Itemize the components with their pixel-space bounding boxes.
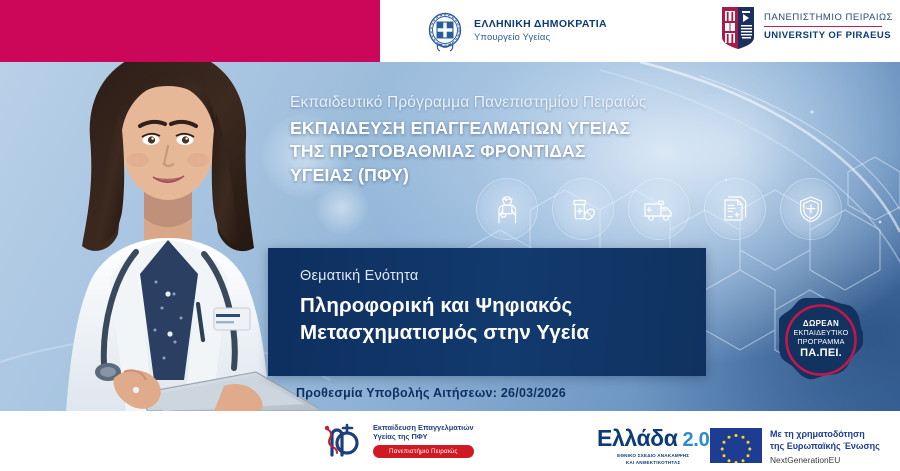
top-header-bar: ΕΛΛΗΝΙΚΗ ΔΗΜΟΚΡΑΤΙΑ Υπουργείο Υγείας	[380, 0, 900, 62]
university-of-piraeus-crest-icon	[720, 6, 756, 50]
university-of-piraeus-logo: ΠΑΝΕΠΙΣΤΗΜΙΟ ΠΕΙΡΑΙΩΣ UNIVERSITY OF PIRA…	[720, 6, 893, 50]
eu-funding-logo: Με τη χρηματοδότηση της Ευρωπαϊκής Ένωση…	[710, 428, 880, 466]
eu-logo-line-1: Με τη χρηματοδότηση	[770, 429, 880, 441]
promotional-banner: Εκπαιδευτικό Πρόγραμμα Πανεπιστημίου Πει…	[0, 0, 900, 471]
european-union-flag-icon	[710, 428, 762, 463]
application-deadline: Προθεσμία Υποβολής Αιτήσεων: 26/03/2026	[296, 386, 566, 400]
eu-logo-line-3: NextGenerationEU	[770, 455, 880, 466]
medicine-bottle-pills-icon	[552, 178, 614, 240]
service-icon-row	[476, 178, 842, 240]
uni-logo-divider	[764, 26, 882, 28]
ellada-logo-sub-1: ΕΘΝΙΚΟ ΣΧΕΔΙΟ ΑΝΑΚΑΜΨΗΣ	[597, 453, 709, 460]
medical-documents-icon	[704, 178, 766, 240]
ellada-2-0-logo: Ελλάδα 2.0 ΕΘΝΙΚΟ ΣΧΕΔΙΟ ΑΝΑΚΑΜΨΗΣ ΚΑΙ Α…	[597, 425, 709, 467]
ellada-logo-word: Ελλάδα	[597, 425, 677, 452]
headline-line-2: ΤΗΣ ΠΡΩΤΟΒΑΘΜΙΑΣ ΦΡΟΝΤΙΔΑΣ	[290, 140, 646, 163]
uni-logo-line-1: ΠΑΝΕΠΙΣΤΗΜΙΟ ΠΕΙΡΑΙΩΣ	[764, 12, 893, 23]
ambulance-icon	[628, 178, 690, 240]
uni-logo-line-2: UNIVERSITY OF PIRAEUS	[764, 30, 893, 41]
hellenic-republic-coat-of-arms-icon	[425, 10, 465, 52]
gov-logo-line-2: Υπουργείο Υγείας	[474, 32, 607, 44]
shield-cross-icon	[780, 178, 842, 240]
magenta-top-block	[0, 0, 380, 62]
module-title-line-2: Μετασχηματισμός στην Υγεία	[300, 319, 589, 346]
gov-logo-line-1: ΕΛΛΗΝΙΚΗ ΔΗΜΟΚΡΑΤΙΑ	[474, 18, 607, 31]
headline-kicker: Εκπαιδευτικό Πρόγραμμα Πανεπιστημίου Πει…	[290, 94, 646, 112]
free-program-badge: ΔΩΡΕΑΝ ΕΚΠΑΙΔΕΥΤΙΚΟ ΠΡΟΓΡΑΜΜΑ ΠΑ.ΠΕΙ.	[779, 298, 863, 382]
ppy-logo-pill: Πανεπιστήμιο Πειραιώς	[373, 445, 474, 458]
module-title-line-1: Πληροφορική και Ψηφιακός	[300, 292, 589, 319]
module-kicker: Θεματική Ενότητα	[300, 268, 418, 284]
headline-block: Εκπαιδευτικό Πρόγραμμα Πανεπιστημίου Πει…	[290, 94, 646, 187]
hellenic-republic-logo: ΕΛΛΗΝΙΚΗ ΔΗΜΟΚΡΑΤΙΑ Υπουργείο Υγείας	[425, 10, 607, 52]
headline-line-1: ΕΚΠΑΙΔΕΥΣΗ ΕΠΑΓΓΕΛΜΑΤΙΩΝ ΥΓΕΙΑΣ	[290, 117, 646, 140]
headline-line-3: ΥΓΕΙΑΣ (ΠΦΥ)	[290, 164, 646, 187]
badge-line-4: ΠΑ.ΠΕΙ.	[800, 347, 842, 360]
eu-logo-line-2: της Ευρωπαϊκής Ένωσης	[770, 441, 880, 453]
ppy-logo-line-2: Υγείας της ΠΦΥ	[373, 433, 474, 442]
ppy-caduceus-logo-icon	[320, 423, 366, 459]
module-panel: Θεματική Ενότητα Πληροφορική και Ψηφιακό…	[268, 248, 706, 376]
ppy-program-logo: Εκπαίδευση Επαγγελματιών Υγείας της ΠΦΥ …	[320, 423, 474, 459]
injured-patient-icon	[476, 178, 538, 240]
badge-line-3: ΠΡΟΓΡΑΜΜΑ	[797, 338, 844, 347]
ellada-logo-sub-2: ΚΑΙ ΑΝΘΕΚΤΙΚΟΤΗΤΑΣ	[597, 460, 709, 467]
ellada-logo-number: 2.0	[682, 429, 709, 452]
